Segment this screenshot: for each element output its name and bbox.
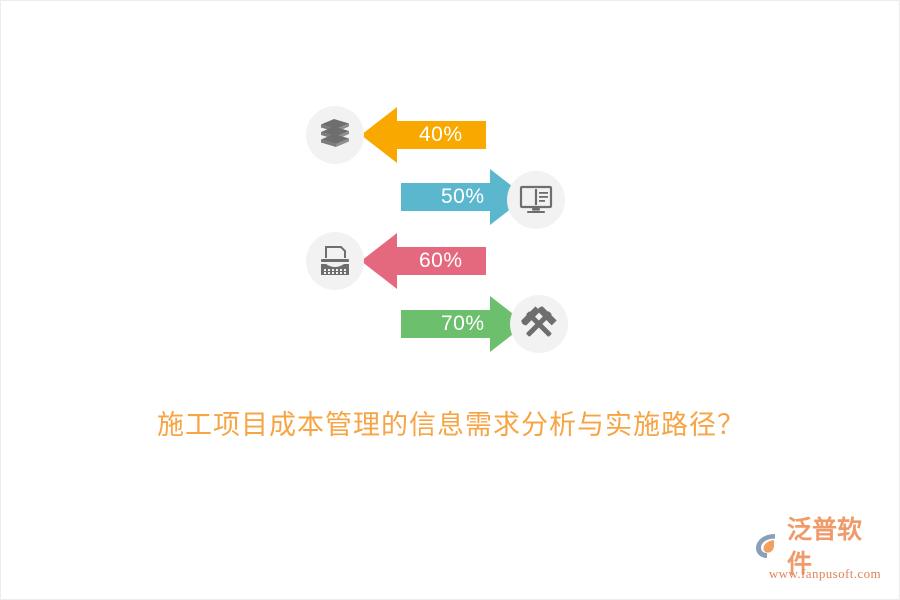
arrow-value-70: 70% [441, 296, 485, 352]
icon-circle-open-book [507, 171, 565, 229]
open-book-icon [518, 184, 554, 216]
icon-circle-typewriter [306, 232, 364, 290]
arrow-infographic: 40% 50% [301, 101, 591, 361]
icon-circle-book-stack [306, 106, 364, 164]
crossed-hammers-icon [520, 306, 558, 342]
book-stack-icon [317, 118, 353, 152]
arrow-value-60: 60% [419, 233, 463, 289]
page-title: 施工项目成本管理的信息需求分析与实施路径？ [1, 403, 900, 442]
arrow-row-60: 60% [361, 233, 486, 289]
arrow-row-70: 70% [401, 296, 526, 352]
arrow-value-50: 50% [441, 169, 485, 225]
typewriter-icon [317, 244, 353, 278]
arrow-value-40: 40% [419, 107, 463, 163]
arrow-row-40: 40% [361, 107, 486, 163]
icon-circle-crossed-hammers [510, 295, 568, 353]
logo-url: www.fanpusoft.com [753, 566, 881, 582]
brand-logo: 泛普软件 www.fanpusoft.com [753, 531, 881, 583]
infographic-canvas: 40% 50% [0, 0, 900, 600]
fanpu-logo-mark-icon [753, 531, 783, 566]
